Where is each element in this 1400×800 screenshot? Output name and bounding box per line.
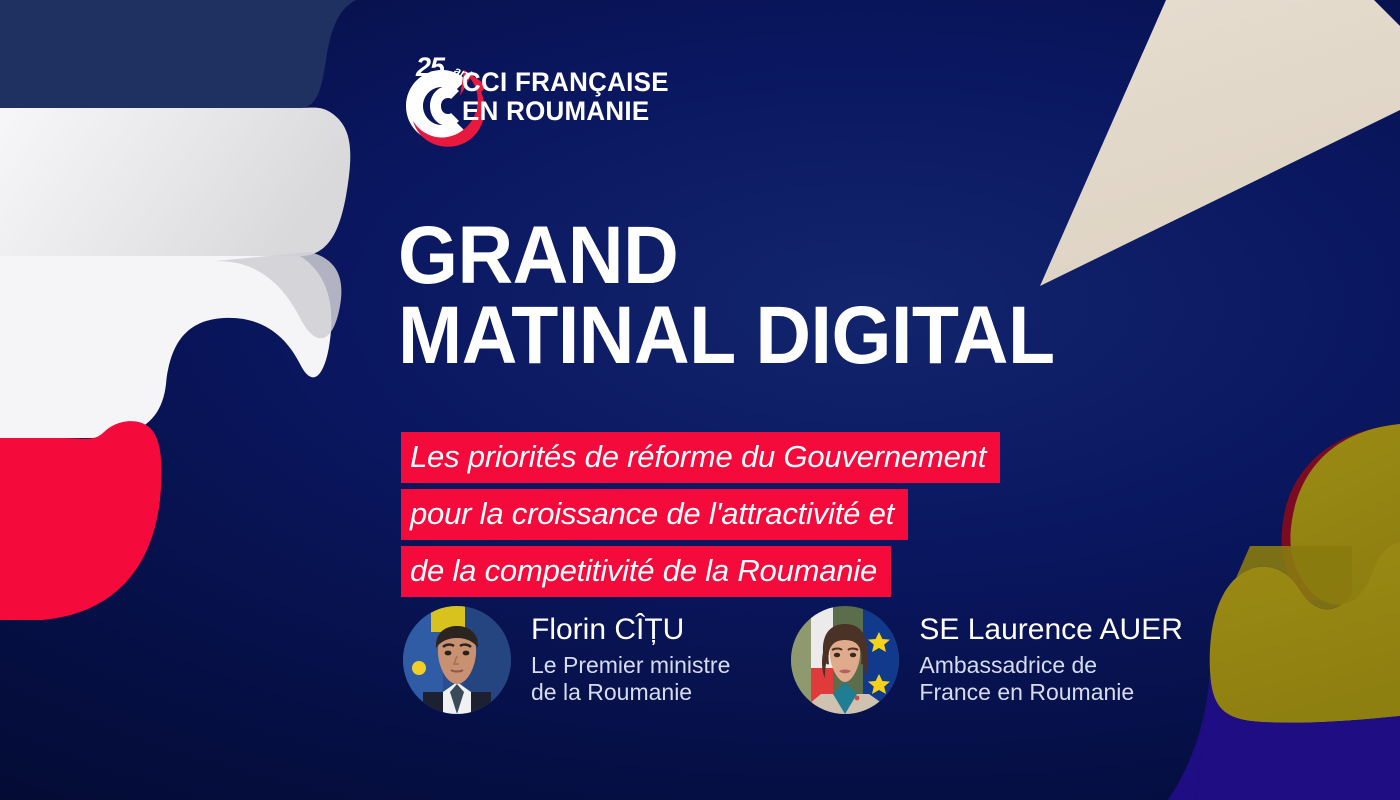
speaker-role-line-2: France en Roumanie [919, 679, 1182, 706]
event-title: GRAND MATINAL DIGITAL [398, 216, 1097, 375]
speaker-text: Florin CÎȚU Le Premier ministre de la Ro… [531, 614, 730, 706]
event-title-line-2: MATINAL DIGITAL [398, 296, 1055, 376]
logo-wordmark: CCI FRANÇAISE EN ROUMANIE [462, 68, 677, 126]
event-subtitle-line-1: Les priorités de réforme du Gouvernement [401, 432, 1000, 483]
event-subtitle-line-3: de la competitivité de la Roumanie [401, 546, 891, 597]
logo-wordmark-line-2: EN ROUMANIE [462, 97, 669, 126]
event-subtitle-line-2: pour la croissance de l'attractivité et [401, 489, 908, 540]
french-flag-blue-band-main [0, 0, 356, 108]
speaker-item: SE Laurence AUER Ambassadrice de France … [791, 606, 1182, 714]
french-flag-ribbon [0, 0, 356, 620]
speaker-role-line-2: de la Roumanie [531, 679, 730, 706]
speaker-role-line-1: Le Premier ministre [531, 652, 730, 679]
cci-logo: 25 ani CCI FRANÇAISE EN ROUMANIE [394, 52, 654, 152]
speaker-name: Florin CÎȚU [531, 614, 730, 646]
speaker-name: SE Laurence AUER [919, 614, 1182, 646]
event-subtitle: Les priorités de réforme du Gouvernement… [401, 432, 1000, 603]
speaker-item: Florin CÎȚU Le Premier ministre de la Ro… [403, 606, 730, 714]
speaker-portrait-citu [403, 606, 511, 714]
avatar [791, 606, 899, 714]
event-poster: 25 ani CCI FRANÇAISE EN ROUMANIE GRAND M… [0, 0, 1400, 800]
speaker-text: SE Laurence AUER Ambassadrice de France … [919, 614, 1182, 706]
logo-wordmark-line-1: CCI FRANÇAISE [462, 68, 669, 97]
avatar [403, 606, 511, 714]
event-title-line-1: GRAND [398, 216, 1055, 296]
speaker-portrait-auer [791, 606, 899, 714]
french-flag-white-band [0, 108, 350, 256]
romanian-flag-ribbon [1168, 424, 1400, 800]
speaker-list: Florin CÎȚU Le Premier ministre de la Ro… [403, 606, 1183, 714]
speaker-role-line-1: Ambassadrice de [919, 652, 1182, 679]
logo-anniversary-number: 25 [416, 52, 444, 83]
french-flag-red-band [0, 421, 162, 620]
